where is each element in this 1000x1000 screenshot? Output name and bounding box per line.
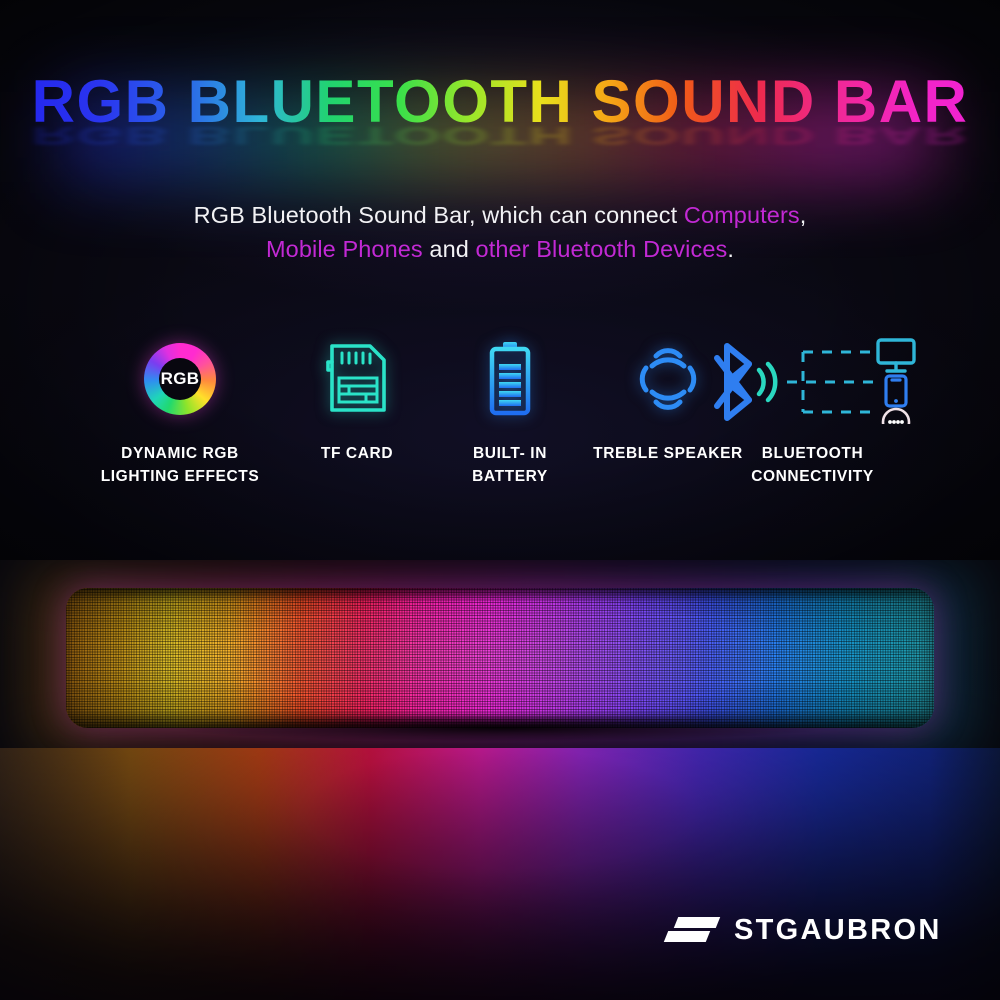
hero-subtitle: RGB Bluetooth Sound Bar, which can conne… xyxy=(0,198,1000,266)
battery-icon xyxy=(484,340,536,418)
brand-logo: STGAUBRON xyxy=(662,908,942,952)
stgaubron-logo-mark xyxy=(662,912,718,948)
subtitle-text-end: . xyxy=(727,236,734,262)
feature-icon-wrap xyxy=(700,336,925,422)
phone-icon xyxy=(886,376,906,406)
feature-label-bluetooth-connectivity: BLUETOOTH CONNECTIVITY xyxy=(700,442,925,488)
feature-bluetooth-connectivity: BLUETOOTH CONNECTIVITY xyxy=(700,336,925,488)
feature-label-line-2: LIGHTING EFFECTS xyxy=(101,468,260,485)
feature-label-dynamic-rgb: DYNAMIC RGB LIGHTING EFFECTS xyxy=(90,442,270,488)
surface-reflection xyxy=(0,748,1000,1000)
brand-name: STGAUBRON xyxy=(734,914,942,947)
treble-speaker-icon xyxy=(628,340,708,418)
bluetooth-devices-icon xyxy=(705,334,920,424)
feature-label-line-2: BATTERY xyxy=(472,468,548,485)
feature-list: RGB DYNAMIC RGB LIGHTING EFFECTS xyxy=(90,336,920,511)
subtitle-highlight-bluetooth-devices: other Bluetooth Devices xyxy=(476,236,728,262)
feature-label-line-1: TF CARD xyxy=(321,445,393,462)
soundbar-edge-shading xyxy=(66,588,934,728)
subtitle-highlight-mobile-phones: Mobile Phones xyxy=(266,236,423,262)
bluetooth-symbol-icon xyxy=(717,346,749,418)
dashed-connection-lines xyxy=(787,352,873,412)
feature-label-line-2: CONNECTIVITY xyxy=(751,468,874,485)
feature-label-line-1: BUILT- IN xyxy=(473,445,547,462)
subtitle-line-1: RGB Bluetooth Sound Bar, which can conne… xyxy=(194,202,807,228)
feature-label-tf-card: TF CARD xyxy=(282,442,432,465)
sd-card-icon xyxy=(324,342,390,416)
rgb-ring-label: RGB xyxy=(144,343,216,415)
signal-waves-icon xyxy=(759,364,775,400)
hero-title-block: RGB BLUETOOTH SOUND BAR RGB BLUETOOTH SO… xyxy=(0,72,1000,132)
feature-label-line-1: BLUETOOTH xyxy=(762,445,864,462)
feature-tf-card: TF CARD xyxy=(282,336,432,465)
subtitle-text-a: RGB Bluetooth Sound Bar, which can conne… xyxy=(194,202,684,228)
feature-icon-wrap xyxy=(282,336,432,422)
feature-label-line-1: DYNAMIC RGB xyxy=(121,445,239,462)
feature-dynamic-rgb: RGB DYNAMIC RGB LIGHTING EFFECTS xyxy=(90,336,270,488)
logo-bar-top xyxy=(674,917,720,928)
subtitle-text-mid: and xyxy=(423,236,476,262)
product-soundbar xyxy=(66,588,934,728)
subtitle-highlight-computers: Computers xyxy=(684,202,800,228)
product-infographic: RGB BLUETOOTH SOUND BAR RGB BLUETOOTH SO… xyxy=(0,0,1000,1000)
more-devices-icon xyxy=(883,409,909,424)
subtitle-line-2: Mobile Phones and other Bluetooth Device… xyxy=(266,236,734,262)
subtitle-text-b: , xyxy=(800,202,807,228)
feature-icon-wrap: RGB xyxy=(90,336,270,422)
monitor-icon xyxy=(878,340,914,371)
logo-bar-bottom xyxy=(664,931,710,942)
rgb-ring-icon: RGB xyxy=(144,343,216,415)
page-title: RGB BLUETOOTH SOUND BAR xyxy=(0,72,1000,132)
